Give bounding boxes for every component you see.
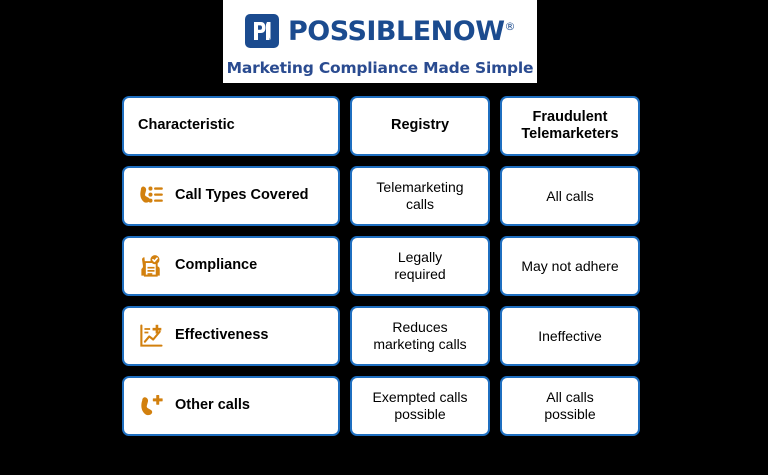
registry-line1: Legally xyxy=(398,249,442,265)
wordmark-bold: POSSIBLE xyxy=(288,16,431,47)
registry-text: Exempted calls possible xyxy=(373,389,468,422)
row-fraudulent-value: May not adhere xyxy=(500,236,640,296)
table-row: Effectiveness Reduces marketing calls In… xyxy=(122,306,640,366)
row-fraudulent-value: All calls xyxy=(500,166,640,226)
table-row: Other calls Exempted calls possible All … xyxy=(122,376,640,436)
row-registry-value: Reduces marketing calls xyxy=(350,306,490,366)
row-characteristic-effectiveness: Effectiveness xyxy=(122,306,340,366)
phone-list-icon xyxy=(136,181,166,211)
registry-line2: possible xyxy=(394,406,445,422)
row-registry-value: Telemarketing calls xyxy=(350,166,490,226)
registry-text: Legally required xyxy=(394,249,445,282)
registry-text: Reduces marketing calls xyxy=(373,319,466,352)
header-cell-registry: Registry xyxy=(350,96,490,156)
registry-line2: marketing calls xyxy=(373,336,466,352)
phone-plus-icon xyxy=(136,391,166,421)
header-cell-characteristic: Characteristic xyxy=(122,96,340,156)
row-fraudulent-value: Ineffective xyxy=(500,306,640,366)
row-characteristic-other-calls: Other calls xyxy=(122,376,340,436)
fraudulent-text: All calls possible xyxy=(544,389,595,422)
brand-logo-banner: POSSIBLENOW® Marketing Compliance Made S… xyxy=(223,0,537,83)
row-registry-value: Legally required xyxy=(350,236,490,296)
row-label: Other calls xyxy=(175,397,250,414)
row-fraudulent-value: All calls possible xyxy=(500,376,640,436)
chart-plus-icon xyxy=(136,321,166,351)
registry-line2: calls xyxy=(406,196,434,212)
hand-document-check-icon xyxy=(136,251,166,281)
wordmark-light: NOW xyxy=(431,16,505,47)
brand-tagline: Marketing Compliance Made Simple xyxy=(227,59,534,77)
row-label: Compliance xyxy=(175,257,257,274)
fraudulent-line1: All calls xyxy=(546,389,593,405)
brand-wordmark: POSSIBLENOW® xyxy=(288,18,515,45)
registry-text: Telemarketing calls xyxy=(376,179,463,212)
row-registry-value: Exempted calls possible xyxy=(350,376,490,436)
header-fraudulent-text: Fraudulent Telemarketers xyxy=(521,109,618,143)
registry-line1: Telemarketing xyxy=(376,179,463,195)
row-characteristic-compliance: Compliance xyxy=(122,236,340,296)
row-characteristic-call-types-covered: Call Types Covered xyxy=(122,166,340,226)
logo-row: POSSIBLENOW® xyxy=(245,10,515,52)
table-row: Compliance Legally required May not adhe… xyxy=(122,236,640,296)
table-row: Call Types Covered Telemarketing calls A… xyxy=(122,166,640,226)
header-fraudulent-line1: Fraudulent xyxy=(533,109,608,125)
row-label: Effectiveness xyxy=(175,327,269,344)
registry-line1: Reduces xyxy=(392,319,447,335)
header-cell-fraudulent-telemarketers: Fraudulent Telemarketers xyxy=(500,96,640,156)
row-label: Call Types Covered xyxy=(175,187,309,204)
fraudulent-line2: possible xyxy=(544,406,595,422)
possiblenow-logo-icon xyxy=(245,14,279,48)
header-fraudulent-line2: Telemarketers xyxy=(521,126,618,142)
comparison-table: Characteristic Registry Fraudulent Telem… xyxy=(122,96,640,436)
registry-line1: Exempted calls xyxy=(373,389,468,405)
table-header-row: Characteristic Registry Fraudulent Telem… xyxy=(122,96,640,156)
registry-line2: required xyxy=(394,266,445,282)
registered-trademark-symbol: ® xyxy=(505,20,516,33)
